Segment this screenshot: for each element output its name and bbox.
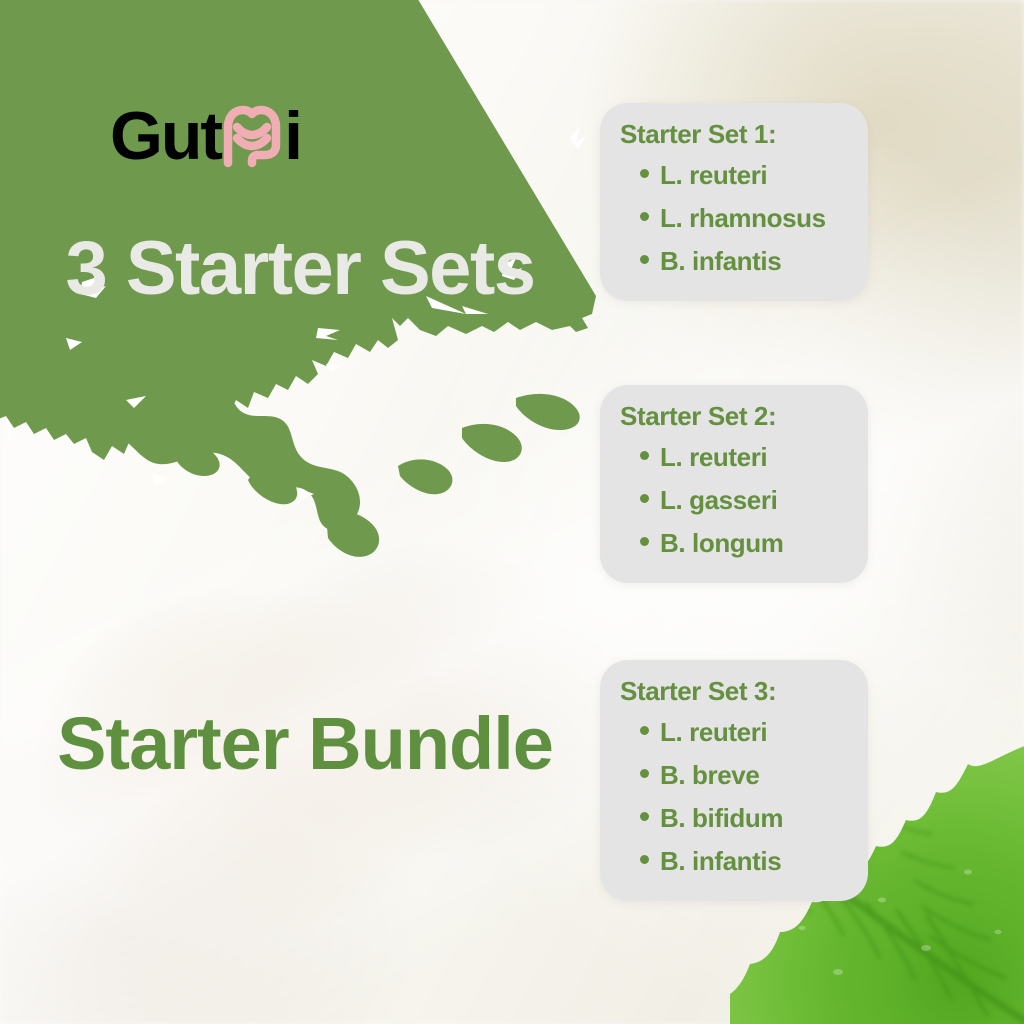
list-item: L. rhamnosus bbox=[614, 197, 850, 240]
bullet-icon bbox=[640, 855, 649, 864]
list-item: B. infantis bbox=[614, 240, 850, 283]
strain-list: L. reuteri L. gasseri B. longum bbox=[614, 436, 850, 565]
list-item: B. longum bbox=[614, 522, 850, 565]
bullet-icon bbox=[640, 451, 649, 460]
starter-set-card-1[interactable]: 3 Pack Starter Set 1: L. reuteri L. rham… bbox=[600, 103, 868, 301]
bullet-icon bbox=[640, 769, 649, 778]
strain-name: L. reuteri bbox=[660, 154, 767, 197]
list-item: L. gasseri bbox=[614, 479, 850, 522]
card-title: Starter Set 3: bbox=[614, 676, 850, 707]
strain-list: L. reuteri B. breve B. bifidum B. infant… bbox=[614, 711, 850, 883]
strain-name: B. longum bbox=[660, 522, 784, 565]
intestine-icon bbox=[218, 103, 286, 169]
logo-text-gut: Gut bbox=[110, 102, 221, 170]
strain-name: L. reuteri bbox=[660, 711, 767, 754]
strain-name: B. infantis bbox=[660, 840, 781, 883]
starter-set-card-2[interactable]: 3 Pack Starter Set 2: L. reuteri L. gass… bbox=[600, 385, 868, 583]
strain-name: B. bifidum bbox=[660, 797, 783, 840]
strain-name: L. gasseri bbox=[660, 479, 777, 522]
product-graphic-canvas: Gut i 3 Starter Sets Starter Bundle 3 Pa… bbox=[0, 0, 1024, 1024]
list-item: B. breve bbox=[614, 754, 850, 797]
list-item: L. reuteri bbox=[614, 154, 850, 197]
list-item: L. reuteri bbox=[614, 711, 850, 754]
list-item: B. infantis bbox=[614, 840, 850, 883]
list-item: L. reuteri bbox=[614, 436, 850, 479]
headline-top: 3 Starter Sets bbox=[60, 228, 540, 309]
bullet-icon bbox=[640, 212, 649, 221]
bullet-icon bbox=[640, 255, 649, 264]
headline-bottom: Starter Bundle bbox=[55, 703, 555, 784]
brand-logo[interactable]: Gut i bbox=[110, 100, 301, 172]
bullet-icon bbox=[640, 537, 649, 546]
list-item: B. bifidum bbox=[614, 797, 850, 840]
bullet-icon bbox=[640, 494, 649, 503]
strain-list: L. reuteri L. rhamnosus B. infantis bbox=[614, 154, 850, 283]
strain-name: B. infantis bbox=[660, 240, 781, 283]
bullet-icon bbox=[640, 812, 649, 821]
logo-text-i: i bbox=[284, 102, 301, 170]
bullet-icon bbox=[640, 169, 649, 178]
starter-set-card-3[interactable]: 3 Pack Starter Set 3: L. reuteri B. brev… bbox=[600, 660, 868, 901]
green-brush-shape bbox=[0, 0, 656, 686]
strain-name: L. reuteri bbox=[660, 436, 767, 479]
card-title: Starter Set 1: bbox=[614, 119, 850, 150]
card-title: Starter Set 2: bbox=[614, 401, 850, 432]
strain-name: B. breve bbox=[660, 754, 759, 797]
strain-name: L. rhamnosus bbox=[660, 197, 826, 240]
bullet-icon bbox=[640, 726, 649, 735]
